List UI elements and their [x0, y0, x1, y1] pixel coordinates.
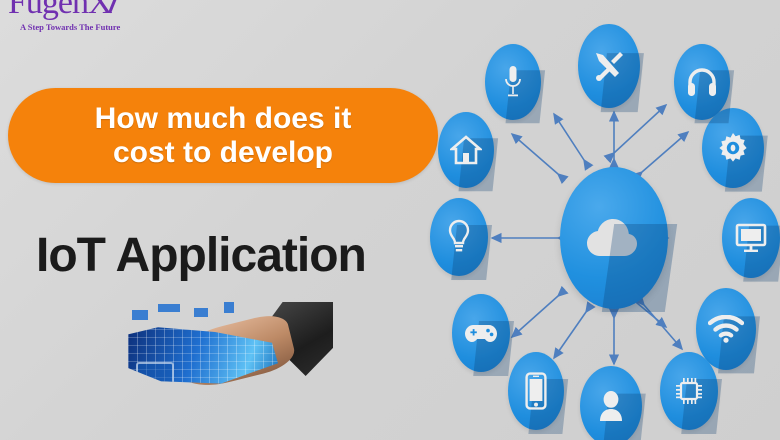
home-icon: [450, 135, 482, 165]
brand-name: FugenX: [8, 0, 168, 20]
gear-icon: [716, 131, 750, 165]
lightbulb-icon: [447, 219, 471, 255]
game-controller-icon: [464, 321, 498, 345]
node-smartphone[interactable]: [508, 352, 564, 430]
banner-canvas: FugenX A Step Towards The Future How muc…: [0, 0, 780, 440]
pill-line-2: cost to develop: [113, 136, 333, 170]
page-title: IoT Application: [36, 228, 366, 283]
node-tools[interactable]: [578, 24, 640, 108]
microphone-icon: [503, 65, 523, 99]
node-home[interactable]: [438, 112, 494, 188]
headline-pill: How much does it cost to develop: [8, 88, 438, 183]
node-user[interactable]: [580, 366, 642, 440]
circuit-fragment: [194, 308, 208, 317]
node-microphone[interactable]: [485, 44, 541, 120]
headphones-icon: [687, 66, 717, 98]
pill-line-1: How much does it: [95, 102, 352, 136]
iot-diagram: [430, 22, 780, 440]
monitor-icon: [735, 223, 767, 253]
node-monitor[interactable]: [722, 198, 780, 278]
circuit-chip: [136, 362, 174, 400]
node-headphones[interactable]: [674, 44, 730, 120]
handshake-illustration: [128, 300, 333, 400]
user-icon: [597, 390, 625, 422]
node-lightbulb[interactable]: [430, 198, 488, 276]
circuit-fragment: [158, 304, 180, 312]
node-microchip[interactable]: [660, 352, 718, 430]
node-gear[interactable]: [702, 108, 764, 188]
circuit-fragment: [224, 302, 234, 313]
brand-tagline: A Step Towards The Future: [20, 22, 120, 32]
brand-logo: FugenX A Step Towards The Future: [8, 0, 168, 38]
hub-node-cloud[interactable]: [560, 167, 668, 309]
microchip-icon: [673, 375, 705, 407]
wifi-icon: [708, 315, 744, 343]
node-game-controller[interactable]: [452, 294, 510, 372]
smartphone-icon: [525, 372, 547, 410]
node-shadow: [601, 224, 676, 312]
tools-icon: [592, 49, 626, 83]
circuit-fragment: [132, 310, 148, 320]
